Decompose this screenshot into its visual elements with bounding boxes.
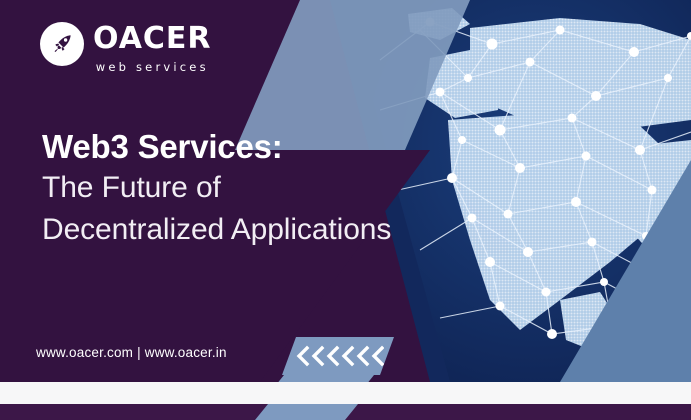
headline-line-2: The Future of [42, 167, 472, 209]
brand-logo[interactable]: OACER web services [40, 22, 212, 74]
brand-tagline: web services [93, 60, 212, 74]
white-divider-strip [0, 382, 691, 404]
chevron-plate [282, 337, 394, 375]
rocket-icon [40, 22, 84, 66]
chevron-left-icon-group [294, 345, 384, 367]
headline-line-1: Web3 Services: [42, 128, 472, 167]
footer-urls[interactable]: www.oacer.com | www.oacer.in [36, 345, 227, 360]
headline-line-3: Decentralized Applications [42, 209, 472, 251]
page-title: Web3 Services: The Future of Decentraliz… [42, 128, 472, 251]
brand-name: OACER [93, 24, 212, 54]
promo-banner: OACER web services Web3 Services: The Fu… [0, 0, 691, 420]
